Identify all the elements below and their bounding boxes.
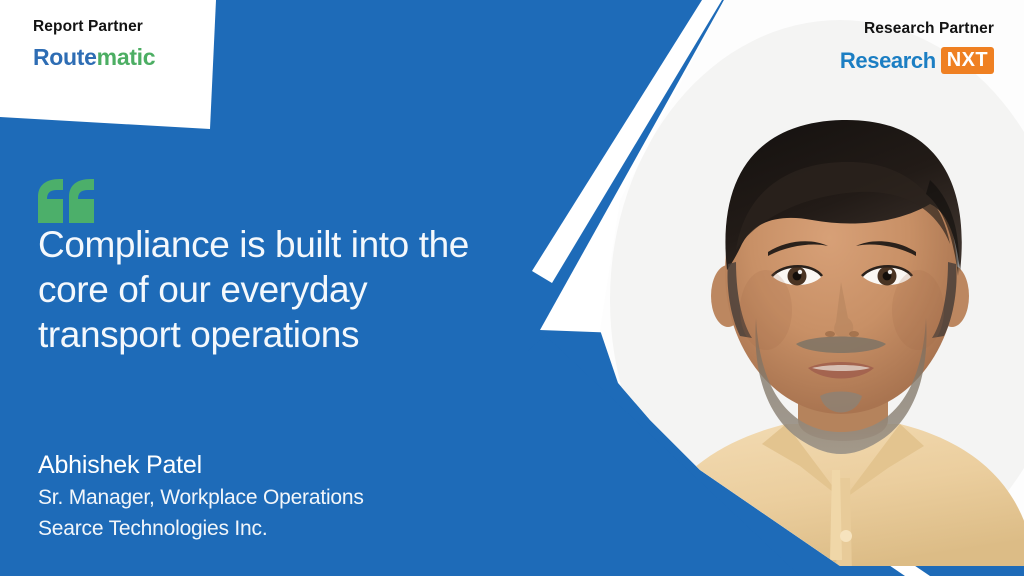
quote-open-icon	[38, 179, 96, 223]
testimonial-card: Report Partner Routematic Research Partn…	[0, 0, 1024, 576]
author-name: Abhishek Patel	[38, 448, 448, 482]
researchnxt-logo: Research NXT	[840, 47, 994, 74]
researchnxt-logo-research: Research	[840, 50, 936, 72]
attribution-block: Abhishek Patel Sr. Manager, Workplace Op…	[38, 448, 448, 544]
author-company: Searce Technologies Inc.	[38, 513, 448, 544]
research-partner-label: Research Partner	[840, 20, 994, 37]
report-partner-label: Report Partner	[33, 18, 223, 35]
research-partner-block: Research Partner Research NXT	[840, 20, 994, 74]
researchnxt-logo-nxt-badge: NXT	[941, 47, 994, 74]
routematic-logo: Routematic	[33, 46, 223, 69]
report-partner-block: Report Partner Routematic	[33, 18, 223, 69]
quote-text: Compliance is built into the core of our…	[38, 222, 508, 357]
routematic-logo-matic: matic	[97, 44, 156, 70]
author-title: Sr. Manager, Workplace Operations	[38, 482, 446, 513]
routematic-logo-route: Route	[33, 44, 97, 70]
